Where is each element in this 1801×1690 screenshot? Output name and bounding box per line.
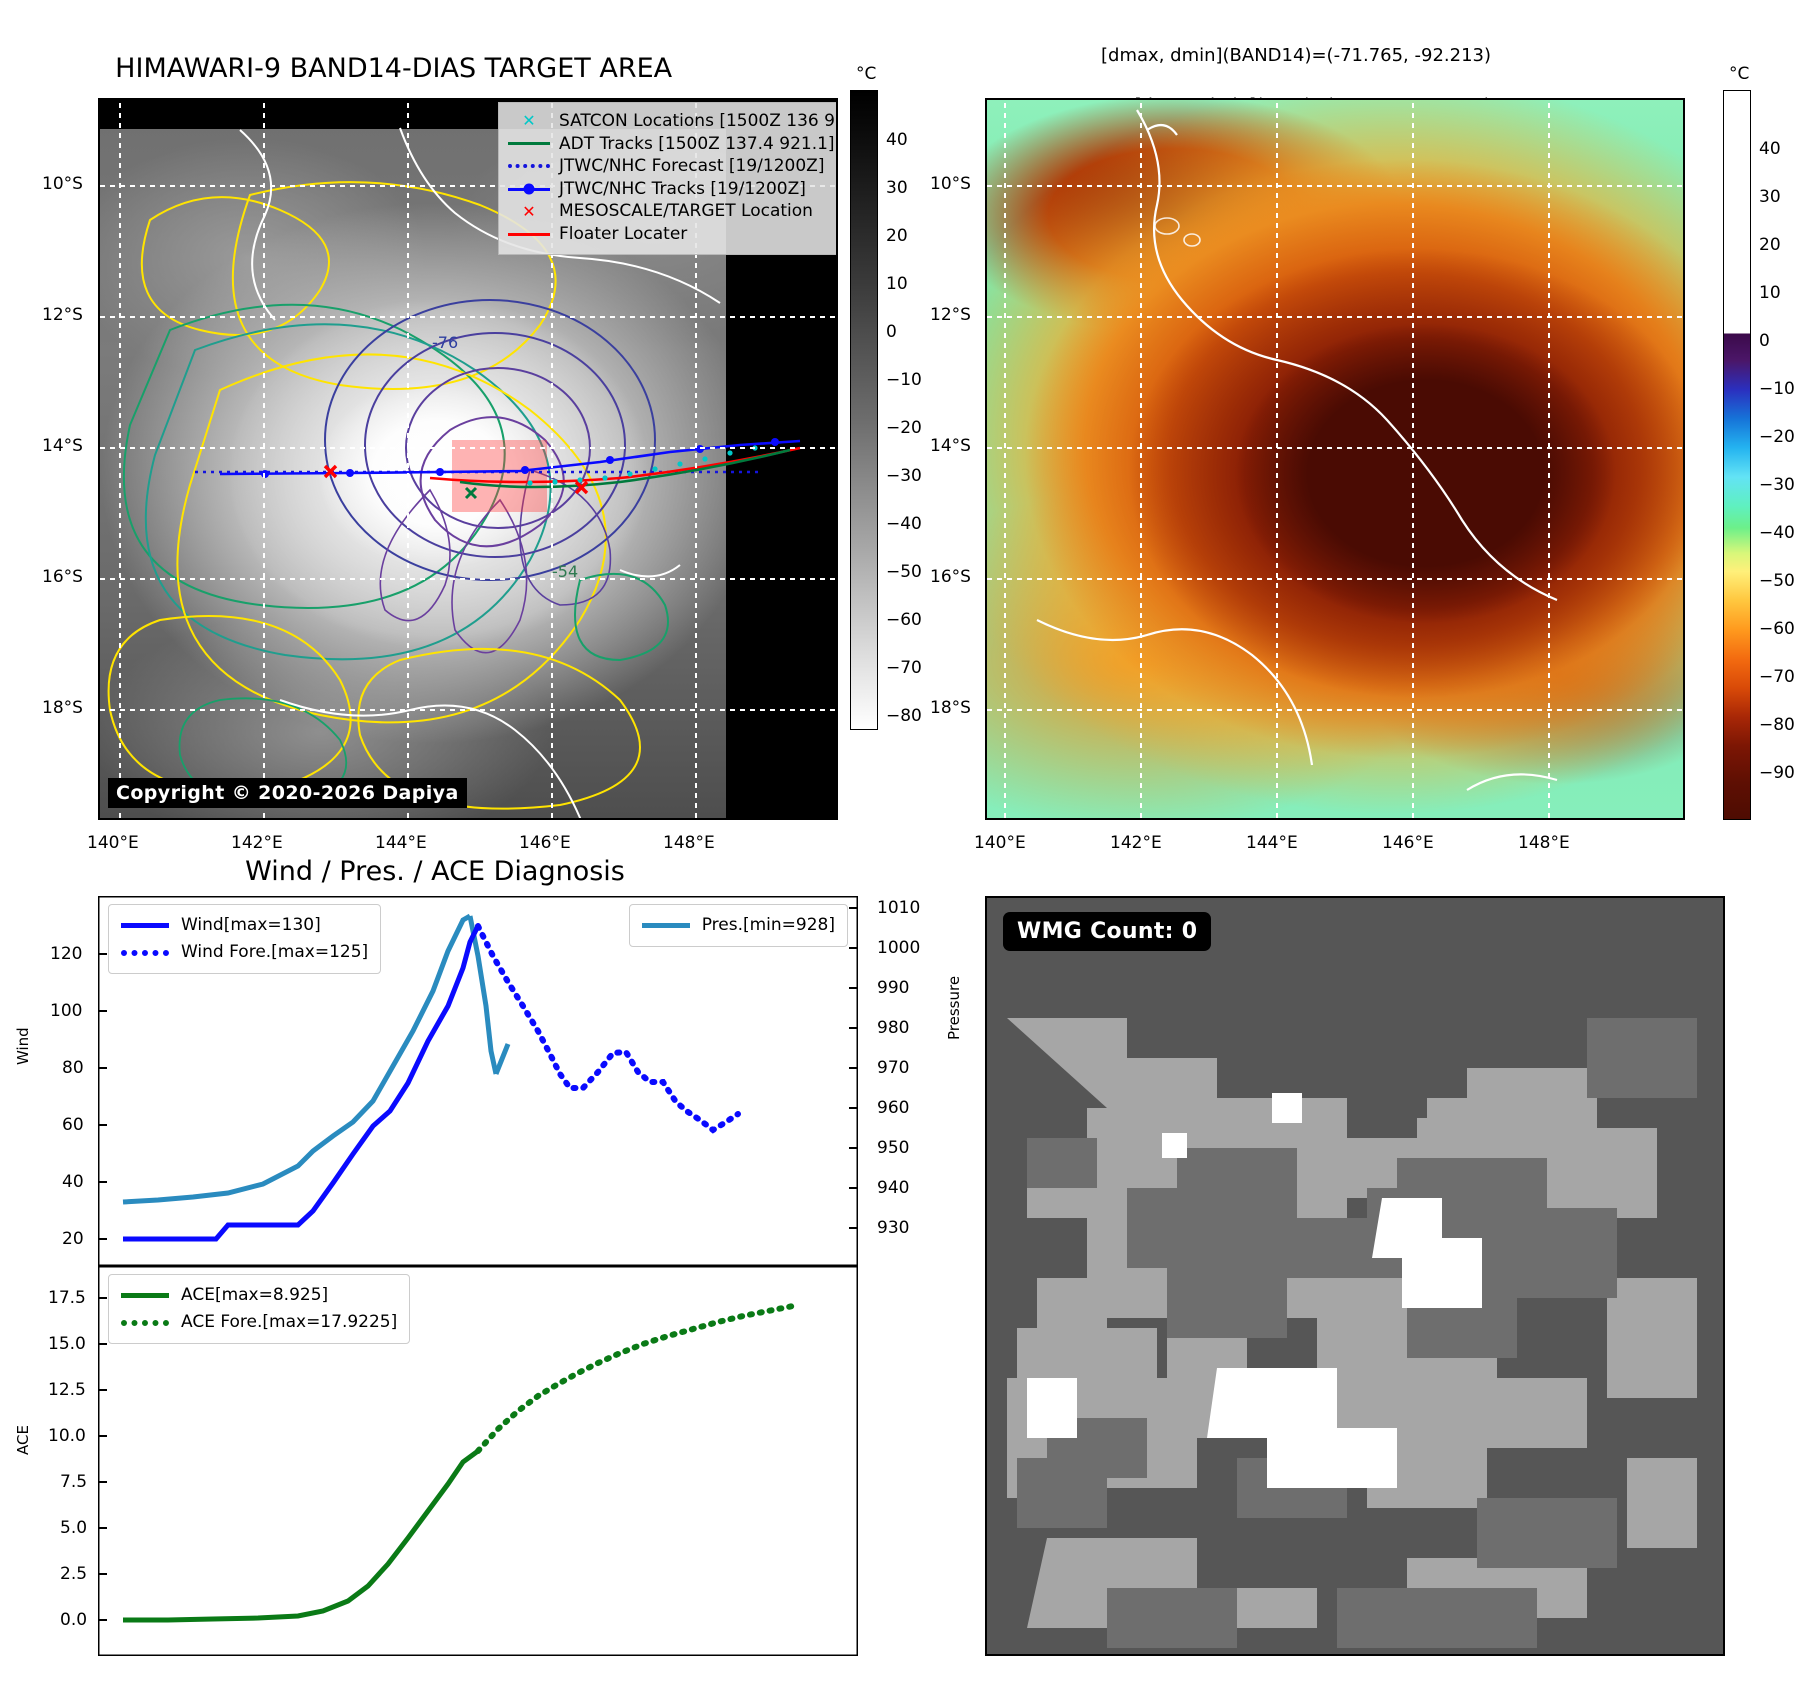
- ace-ytick-0-0: 0.0: [60, 1610, 87, 1630]
- x-cross-icon: ✕: [508, 205, 550, 219]
- awv-grid-lat-12: [987, 316, 1683, 318]
- ir-cbar-tick-m10: −10: [886, 370, 922, 390]
- ace-ytick-7-5: 7.5: [60, 1472, 87, 1492]
- legend-item-wind[interactable]: Wind[max=130]: [121, 912, 368, 939]
- ir-lat-tick-12s: 12°S: [42, 305, 83, 325]
- legend-item-ace-forecast[interactable]: ACE Fore.[max=17.9225]: [121, 1309, 397, 1336]
- legend-label: Floater Locater: [559, 223, 687, 246]
- awv-cbar-tick-10: 10: [1759, 283, 1781, 303]
- wind-ytick-120: 120: [50, 944, 82, 964]
- awv-coastlines: [987, 100, 1685, 820]
- awv-lon-tick-142e: 142°E: [1110, 833, 1162, 853]
- awv-grid-lat-18: [987, 709, 1683, 711]
- legend-label: Wind[max=130]: [181, 912, 321, 939]
- wind-ytick-60: 60: [62, 1115, 84, 1135]
- pressure-axis-label: Pressure: [945, 976, 963, 1040]
- awv-cbar-tick-m20: −20: [1759, 427, 1795, 447]
- ir-grid-lat-14: [100, 447, 836, 449]
- pres-ytick-980: 980: [877, 1018, 909, 1038]
- ir-cbar-tick-m80: −80: [886, 706, 922, 726]
- legend-label: JTWC/NHC Forecast [19/1200Z]: [559, 155, 824, 178]
- ace-axis-label: ACE: [14, 1425, 32, 1455]
- awv-lat-tick-10s: 10°S: [930, 174, 971, 194]
- legend-item-satcon[interactable]: ✕ SATCON Locations [1500Z 136 925]: [508, 110, 838, 133]
- awv-lon-tick-148e: 148°E: [1518, 833, 1570, 853]
- awv-cbar-tick-m70: −70: [1759, 667, 1795, 687]
- legend-label: Wind Fore.[max=125]: [181, 939, 368, 966]
- ir-colorbar: [850, 90, 878, 730]
- legend-item-wind-forecast[interactable]: Wind Fore.[max=125]: [121, 939, 368, 966]
- awv-cbar-tick-m90: −90: [1759, 763, 1795, 783]
- awv-lat-tick-16s: 16°S: [930, 567, 971, 587]
- ir-cbar-tick-m20: −20: [886, 418, 922, 438]
- awv-cbar-tick-m50: −50: [1759, 571, 1795, 591]
- ir-lat-tick-10s: 10°S: [42, 174, 83, 194]
- mesoscale-target-box: [452, 440, 547, 512]
- dmax-dmin-band14: [dmax, dmin](BAND14)=(-71.765, -92.213): [1101, 45, 1491, 66]
- awv-lat-tick-12s: 12°S: [930, 305, 971, 325]
- ir-cbar-tick-m40: −40: [886, 514, 922, 534]
- ir-cbar-tick-m60: −60: [886, 610, 922, 630]
- awv-cbar-tick-m80: −80: [1759, 715, 1795, 735]
- ir-lat-tick-14s: 14°S: [42, 436, 83, 456]
- ir-cbar-tick-40: 40: [886, 130, 908, 150]
- awv-cbar-tick-30: 30: [1759, 187, 1781, 207]
- ace-legend: ACE[max=8.925] ACE Fore.[max=17.9225]: [108, 1274, 410, 1344]
- copyright-notice: Copyright © 2020-2026 Dapiya: [108, 778, 467, 808]
- awv-lon-tick-146e: 146°E: [1382, 833, 1434, 853]
- ir-map-legend: ✕ SATCON Locations [1500Z 136 925] ADT T…: [498, 102, 838, 255]
- awv-lat-tick-18s: 18°S: [930, 698, 971, 718]
- ir-cbar-tick-0: 0: [886, 322, 897, 342]
- pres-ytick-960: 960: [877, 1098, 909, 1118]
- ir-cbar-tick-20: 20: [886, 226, 908, 246]
- ir-cbar-tick-30: 30: [886, 178, 908, 198]
- ir-colorbar-unit: °C: [856, 64, 876, 84]
- solid-line-icon: [121, 923, 169, 928]
- wmg-count-badge: WMG Count: 0: [1003, 912, 1211, 951]
- solid-line-icon: [508, 227, 550, 241]
- awv-enhanced-map[interactable]: [985, 98, 1685, 820]
- ace-ytick-10-0: 10.0: [48, 1426, 86, 1446]
- ir-grid-lat-12: [100, 316, 836, 318]
- legend-item-jtwc-tracks[interactable]: JTWC/NHC Tracks [19/1200Z]: [508, 178, 838, 201]
- ace-ytick-12-5: 12.5: [48, 1380, 86, 1400]
- pres-ytick-950: 950: [877, 1138, 909, 1158]
- awv-grid-lat-10: [987, 185, 1683, 187]
- legend-label: ADT Tracks [1500Z 137.4 921.1]: [559, 133, 835, 156]
- ir-cbar-tick-m50: −50: [886, 562, 922, 582]
- dotted-line-icon: [121, 1320, 169, 1326]
- legend-item-mesoscale-target[interactable]: ✕ MESOSCALE/TARGET Location: [508, 200, 838, 223]
- awv-cbar-tick-0: 0: [1759, 331, 1770, 351]
- ir-cbar-tick-10: 10: [886, 274, 908, 294]
- awv-cbar-tick-m10: −10: [1759, 379, 1795, 399]
- ir-lon-tick-148e: 148°E: [663, 833, 715, 853]
- wmg-cells: [987, 898, 1725, 1656]
- ir-lon-tick-146e: 146°E: [519, 833, 571, 853]
- ir-lat-tick-16s: 16°S: [42, 567, 83, 587]
- awv-cbar-tick-m30: −30: [1759, 475, 1795, 495]
- ir-cbar-tick-m30: −30: [886, 466, 922, 486]
- legend-item-jtwc-forecast[interactable]: JTWC/NHC Forecast [19/1200Z]: [508, 155, 838, 178]
- ir-lon-tick-142e: 142°E: [231, 833, 283, 853]
- ir-lon-tick-144e: 144°E: [375, 833, 427, 853]
- awv-grid-lat-16: [987, 578, 1683, 580]
- wind-legend: Wind[max=130] Wind Fore.[max=125]: [108, 904, 381, 974]
- awv-lat-tick-14s: 14°S: [930, 436, 971, 456]
- ir-cbar-tick-m70: −70: [886, 658, 922, 678]
- awv-colorbar-unit: °C: [1729, 64, 1749, 84]
- pres-ytick-930: 930: [877, 1218, 909, 1238]
- pres-ytick-1010: 1010: [877, 898, 920, 918]
- svg-text:-76: -76: [432, 333, 458, 352]
- wind-pressure-chart[interactable]: Wind[max=130] Wind Fore.[max=125] Pres.[…: [98, 896, 858, 1266]
- pres-ytick-990: 990: [877, 978, 909, 998]
- ace-ytick-2-5: 2.5: [60, 1564, 87, 1584]
- legend-label: JTWC/NHC Tracks [19/1200Z]: [559, 178, 806, 201]
- ir-grid-lat-16: [100, 578, 836, 580]
- legend-label: SATCON Locations [1500Z 136 925]: [559, 110, 838, 133]
- line-with-dot-icon: [508, 182, 550, 196]
- wind-axis-label: Wind: [14, 1027, 32, 1065]
- solid-line-icon: [121, 1293, 169, 1298]
- title-line-1: HIMAWARI-9 BAND14-DIAS TARGET AREA: [115, 53, 672, 84]
- solid-line-icon: [642, 923, 690, 928]
- legend-item-adt-tracks[interactable]: ADT Tracks [1500Z 137.4 921.1]: [508, 133, 838, 156]
- ir-lat-tick-18s: 18°S: [42, 698, 83, 718]
- legend-item-floater-locater[interactable]: Floater Locater: [508, 223, 838, 246]
- pres-ytick-1000: 1000: [877, 938, 920, 958]
- awv-cbar-tick-40: 40: [1759, 139, 1781, 159]
- ir-grid-lat-18: [100, 709, 836, 711]
- wind-ytick-20: 20: [62, 1229, 84, 1249]
- wind-ytick-40: 40: [62, 1172, 84, 1192]
- pressure-legend: Pres.[min=928]: [629, 904, 848, 947]
- wind-ytick-80: 80: [62, 1058, 84, 1078]
- ir-lon-tick-140e: 140°E: [87, 833, 139, 853]
- legend-label: ACE[max=8.925]: [181, 1282, 328, 1309]
- legend-item-ace[interactable]: ACE[max=8.925]: [121, 1282, 397, 1309]
- awv-lon-tick-144e: 144°E: [1246, 833, 1298, 853]
- ir-satellite-map[interactable]: -76 -54 ✕ SATCON Locations [1500Z 136 92…: [98, 98, 838, 820]
- pres-ytick-970: 970: [877, 1058, 909, 1078]
- ace-ytick-5-0: 5.0: [60, 1518, 87, 1538]
- legend-item-pressure[interactable]: Pres.[min=928]: [642, 912, 835, 939]
- awv-cbar-tick-m60: −60: [1759, 619, 1795, 639]
- awv-grid-lat-14: [987, 447, 1683, 449]
- wmg-classification-map[interactable]: WMG Count: 0: [985, 896, 1725, 1656]
- dotted-line-icon: [121, 950, 169, 956]
- legend-label: ACE Fore.[max=17.9225]: [181, 1309, 397, 1336]
- pres-ytick-940: 940: [877, 1178, 909, 1198]
- x-cross-icon: ✕: [508, 114, 550, 128]
- ace-chart[interactable]: ACE[max=8.925] ACE Fore.[max=17.9225]: [98, 1266, 858, 1656]
- ace-ytick-15-0: 15.0: [48, 1334, 86, 1354]
- awv-lon-tick-140e: 140°E: [974, 833, 1026, 853]
- awv-cbar-tick-m40: −40: [1759, 523, 1795, 543]
- ace-ytick-17-5: 17.5: [48, 1288, 86, 1308]
- awv-colorbar: [1723, 90, 1751, 820]
- legend-label: Pres.[min=928]: [702, 912, 835, 939]
- diagnosis-title: Wind / Pres. / ACE Diagnosis: [0, 856, 870, 887]
- legend-label: MESOSCALE/TARGET Location: [559, 200, 813, 223]
- solid-line-icon: [508, 137, 550, 151]
- dotted-line-icon: [508, 159, 550, 173]
- awv-cbar-tick-20: 20: [1759, 235, 1781, 255]
- wind-ytick-100: 100: [50, 1001, 82, 1021]
